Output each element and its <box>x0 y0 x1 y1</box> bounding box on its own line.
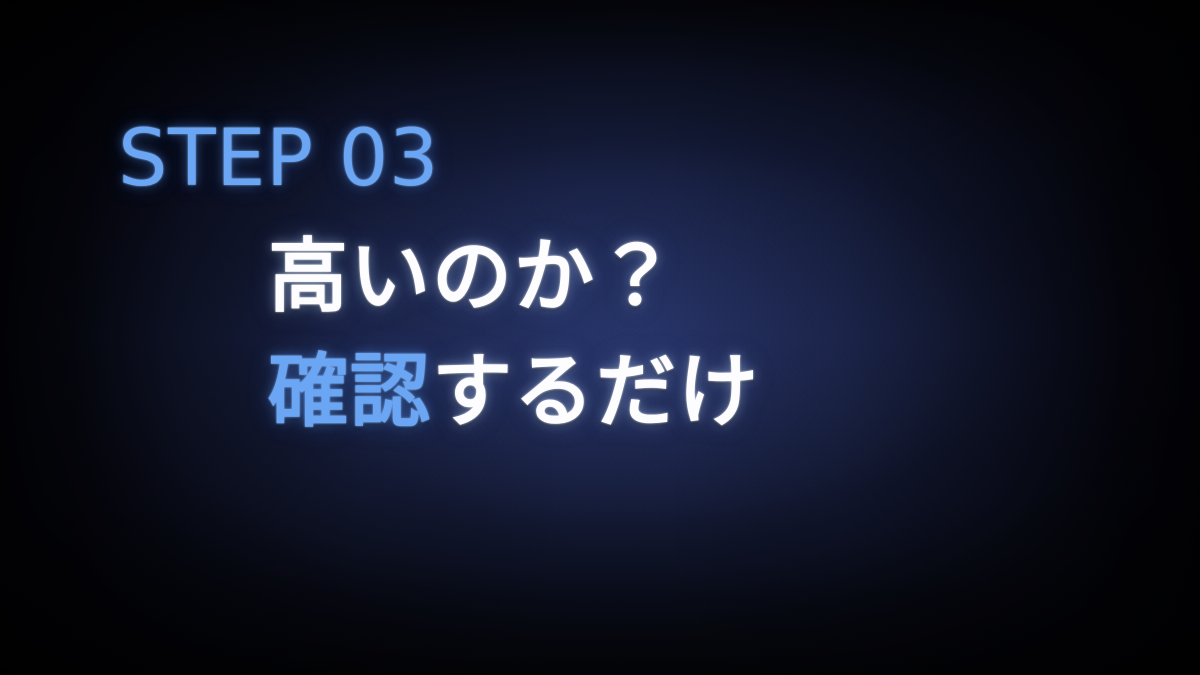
headline-line-2: 確認するだけ <box>268 352 760 432</box>
slide-canvas: STEP 03 高いのか？ 確認するだけ <box>0 0 1200 675</box>
headline-line-1: 高いのか？ <box>268 237 678 317</box>
slide-content: STEP 03 高いのか？ 確認するだけ <box>0 0 1200 675</box>
headline-line-2-accent: 確認 <box>268 345 432 438</box>
step-label: STEP 03 <box>118 120 439 198</box>
headline-line-2-rest: するだけ <box>432 345 760 438</box>
